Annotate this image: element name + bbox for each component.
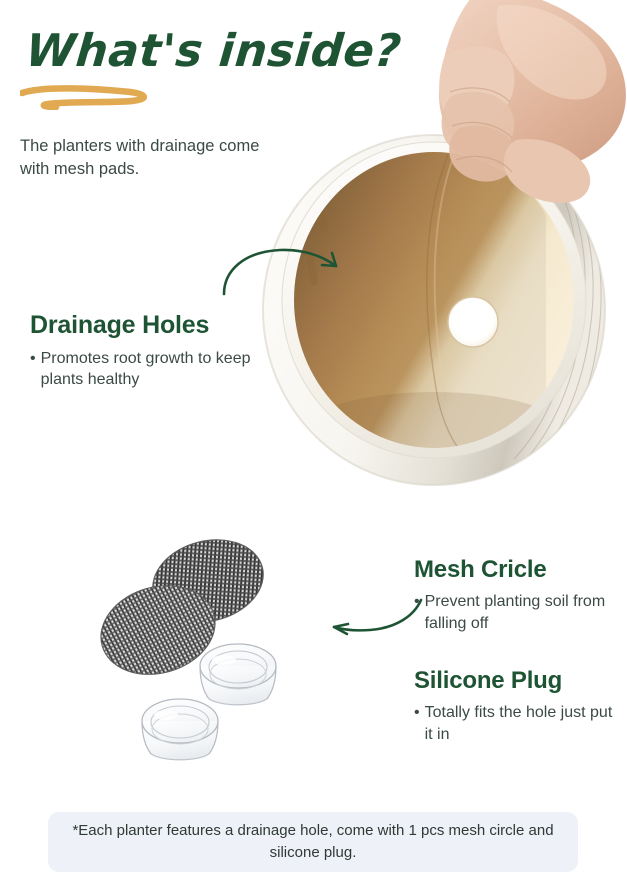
bullet-dot-icon: • — [414, 591, 420, 634]
bullet-text: Totally fits the hole just put it in — [425, 702, 619, 745]
intro-paragraph: The planters with drainage come with mes… — [20, 135, 285, 181]
bullet-dot-icon: • — [30, 348, 36, 391]
feature-bullet-drainage-holes: • Promotes root growth to keep plants he… — [30, 348, 260, 391]
feature-bullet-mesh-circle: • Prevent planting soil from falling off — [414, 591, 614, 634]
bullet-text: Prevent planting soil from falling off — [425, 591, 614, 634]
title-underline-swoosh — [20, 84, 160, 110]
feature-drainage-holes: Drainage Holes • Promotes root growth to… — [30, 312, 260, 391]
feature-heading-silicone-plug: Silicone Plug — [414, 668, 619, 694]
bullet-dot-icon: • — [414, 702, 420, 745]
footer-note-box: *Each planter features a drainage hole, … — [48, 812, 578, 872]
mesh-circles-and-silicone-plugs-photo — [90, 518, 350, 773]
footer-note-text: *Each planter features a drainage hole, … — [48, 820, 578, 864]
feature-bullet-silicone-plug: • Totally fits the hole just put it in — [414, 702, 619, 745]
infographic-page: What's inside? The planters with drainag… — [0, 0, 627, 879]
bullet-text: Promotes root growth to keep plants heal… — [41, 348, 260, 391]
hand-graphic — [439, 0, 626, 203]
silicone-plug-upper — [200, 644, 276, 706]
feature-silicone-plug: Silicone Plug • Totally fits the hole ju… — [414, 668, 619, 746]
drainage-hole-pointer-arrow — [218, 238, 353, 298]
feature-heading-mesh-circle: Mesh Cricle — [414, 557, 614, 583]
silicone-plug-lower — [142, 699, 218, 761]
feature-heading-drainage-holes: Drainage Holes — [30, 312, 260, 340]
feature-mesh-circle: Mesh Cricle • Prevent planting soil from… — [414, 557, 614, 635]
accessories-pointer-arrow — [322, 594, 427, 649]
